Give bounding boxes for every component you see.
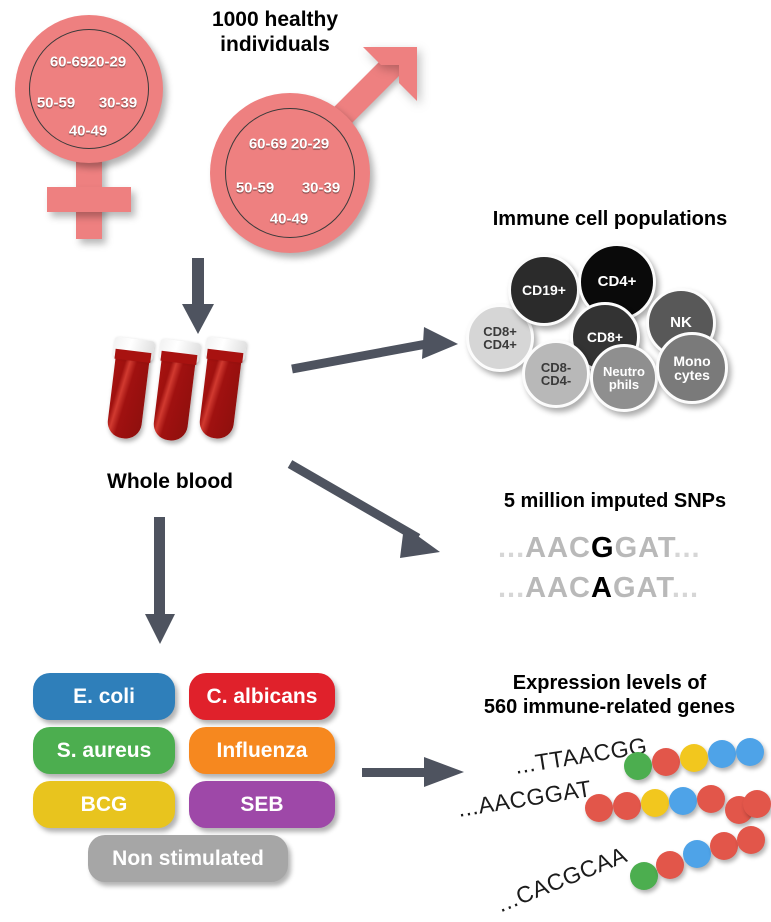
stimulus-box-non-stimulated[interactable]: Non stimulated	[88, 835, 288, 882]
stimulus-label: S. aureus	[57, 739, 152, 763]
page-title-line2: individuals	[180, 33, 370, 58]
gene-bead	[736, 738, 764, 766]
arrow-cohort-to-blood	[178, 258, 218, 338]
pie-label-20-29: 20-29	[291, 136, 329, 153]
immune-bubble-cd8neg-cd4neg: CD8-CD4-	[522, 340, 590, 408]
gene-bead	[669, 787, 697, 815]
blood-tube-fill	[106, 350, 150, 440]
gene-expression-strands: ...TTAACGG ...AACGGAT ...CACGCAA	[440, 730, 771, 915]
gene-bead	[697, 785, 725, 813]
snp-suffix: ...	[673, 532, 700, 564]
immune-bubble-label: NK	[670, 315, 692, 330]
snp-left: AAC	[525, 572, 591, 604]
immune-heading: Immune cell populations	[455, 208, 765, 232]
gene-strand-sequence: ...AACGGAT	[456, 775, 593, 823]
arrow-blood-to-snps	[288, 460, 463, 570]
stimulus-label: BCG	[81, 793, 128, 817]
gene-bead	[710, 832, 738, 860]
snps-heading: 5 million imputed SNPs	[470, 490, 760, 514]
stimulus-label: Influenza	[216, 739, 307, 763]
immune-bubble-label: CD8+	[587, 330, 623, 344]
immune-bubble-label: CD19+	[522, 283, 566, 297]
male-symbol-arrowhead	[355, 47, 425, 117]
immune-bubble-label: CD4+	[598, 274, 637, 289]
immune-cell-bubbles: CD8+CD4+ CD19+ CD4+ NK CD8+ CD8-CD4- Neu…	[460, 240, 760, 415]
page-title: 1000 healthy individuals	[180, 8, 370, 58]
blood-tube	[106, 337, 152, 440]
pie-label-50-59: 50-59	[37, 95, 75, 112]
immune-bubble-cd19pos: CD19+	[508, 254, 580, 326]
gene-bead	[613, 792, 641, 820]
female-gender-symbol: 20-29 30-39 40-49 50-59 60-69	[10, 10, 180, 240]
immune-bubble-neutrophils: Neutrophils	[590, 344, 658, 412]
arrow-blood-to-stimuli	[140, 517, 180, 647]
immune-bubble-label: CD8+CD4+	[483, 325, 517, 352]
gene-bead	[737, 826, 765, 854]
snp-right: GAT	[613, 572, 672, 604]
blood-tube-fill	[198, 350, 242, 440]
immune-bubble-label: CD8-CD4-	[541, 361, 571, 388]
snp-variant: G	[591, 532, 615, 564]
immune-bubble-monocytes: Monocytes	[656, 332, 728, 404]
gene-bead	[630, 862, 658, 890]
pie-label-30-39: 30-39	[99, 95, 137, 112]
stimulus-label: SEB	[240, 793, 283, 817]
whole-blood-tubes	[112, 335, 292, 445]
snp-prefix: ...	[498, 572, 525, 604]
pie-label-20-29: 20-29	[88, 54, 126, 71]
snp-right: GAT	[615, 532, 674, 564]
stimulus-box-influenza[interactable]: Influenza	[189, 727, 335, 774]
gene-bead	[585, 794, 613, 822]
male-gender-symbol: 20-29 30-39 40-49 50-59 60-69	[200, 55, 420, 255]
blood-tube	[198, 337, 244, 440]
pie-label-30-39: 30-39	[302, 180, 340, 197]
gene-strand: ...CACGCAA	[440, 830, 771, 900]
snp-variant: A	[591, 572, 613, 604]
arrow-blood-to-immune	[290, 325, 475, 380]
page-title-line1: 1000 healthy	[180, 8, 370, 33]
blood-tube	[152, 339, 198, 442]
snp-sequence-row: ...AACGGAT...	[498, 532, 701, 565]
gene-bead	[641, 789, 669, 817]
stimulus-label: C. albicans	[207, 685, 318, 709]
snp-prefix: ...	[498, 532, 525, 564]
gene-bead	[683, 840, 711, 868]
stimulus-box-seb[interactable]: SEB	[189, 781, 335, 828]
female-symbol-crossbar	[47, 187, 131, 212]
blood-tube-fill	[152, 352, 196, 442]
pie-label-40-49: 40-49	[69, 123, 107, 140]
pie-label-60-69: 60-69	[50, 54, 88, 71]
whole-blood-label: Whole blood	[80, 470, 260, 495]
gene-strand: ...AACGGAT	[440, 768, 771, 828]
expression-heading: Expression levels of 560 immune-related …	[452, 672, 767, 719]
gene-bead	[743, 790, 771, 818]
snp-sequence-row: ...AACAGAT...	[498, 572, 699, 605]
stimulus-box-bcg[interactable]: BCG	[33, 781, 175, 828]
expression-heading-line2: 560 immune-related genes	[452, 696, 767, 720]
pie-label-60-69: 60-69	[249, 136, 287, 153]
stimulus-box-e-coli[interactable]: E. coli	[33, 673, 175, 720]
female-age-pie-chart: 20-29 30-39 40-49 50-59 60-69	[29, 29, 149, 149]
gene-strand-sequence: ...CACGCAA	[493, 841, 631, 918]
immune-bubble-label: Monocytes	[673, 354, 710, 383]
expression-heading-line1: Expression levels of	[452, 672, 767, 696]
stimulus-label: E. coli	[73, 685, 135, 709]
stimulus-box-c-albicans[interactable]: C. albicans	[189, 673, 335, 720]
immune-bubble-label: Neutrophils	[603, 365, 645, 392]
stimulus-label: Non stimulated	[112, 847, 264, 871]
snp-left: AAC	[525, 532, 591, 564]
male-age-pie-chart: 20-29 30-39 40-49 50-59 60-69	[225, 108, 355, 238]
pie-label-40-49: 40-49	[270, 211, 308, 228]
pie-label-50-59: 50-59	[236, 180, 274, 197]
snp-suffix: ...	[672, 572, 699, 604]
gene-bead	[708, 740, 736, 768]
stimulus-box-s-aureus[interactable]: S. aureus	[33, 727, 175, 774]
gene-bead	[656, 851, 684, 879]
